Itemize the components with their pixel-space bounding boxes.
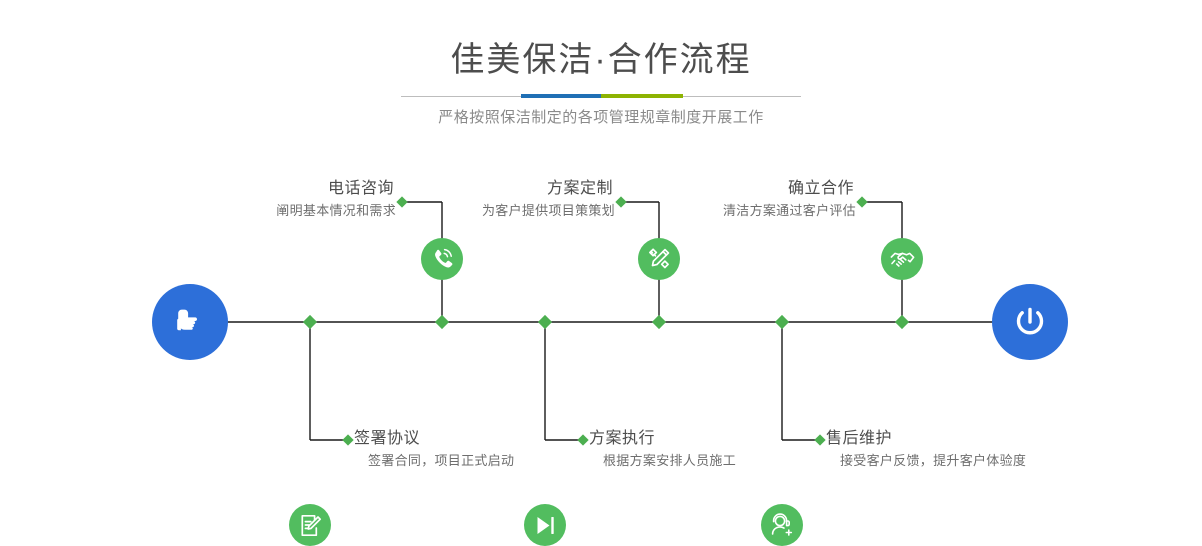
step-node-plan-design[interactable] xyxy=(638,238,680,280)
step-label-phone-call: 电话咨询 阐明基本情况和需求 xyxy=(150,178,396,222)
timeline-diamond-5 xyxy=(775,315,789,329)
step-title: 确立合作 xyxy=(610,178,856,200)
play-forward-icon xyxy=(533,513,558,538)
step-title: 电话咨询 xyxy=(150,178,396,200)
step-desc: 为客户提供项目策策划 xyxy=(370,200,615,222)
label-diamond-down-2 xyxy=(577,434,588,445)
pointing-hand-icon xyxy=(170,302,210,342)
step-node-handshake[interactable] xyxy=(881,238,923,280)
page-title: 佳美保洁·合作流程 xyxy=(0,38,1202,82)
step-desc: 接受客户反馈，提升客户体验度 xyxy=(826,450,1026,472)
step-title: 售后维护 xyxy=(826,428,1026,450)
step-node-sign-agreement[interactable] xyxy=(289,504,331,546)
step-label-handshake: 确立合作 清洁方案通过客户评估 xyxy=(610,178,856,222)
timeline-diamond-1 xyxy=(303,315,317,329)
step-label-plan-design: 方案定制 为客户提供项目策策划 xyxy=(370,178,615,222)
step-node-execute-plan[interactable] xyxy=(524,504,566,546)
timeline-diamond-4 xyxy=(652,315,666,329)
timeline-diamond-3 xyxy=(538,315,552,329)
step-desc: 清洁方案通过客户评估 xyxy=(610,200,856,222)
timeline-diamond-6 xyxy=(895,315,909,329)
title-divider xyxy=(401,94,801,98)
step-title: 方案定制 xyxy=(370,178,615,200)
divider-blue-segment xyxy=(521,94,601,98)
headset-support-icon xyxy=(769,512,795,538)
step-desc: 签署合同，项目正式启动 xyxy=(354,450,514,472)
process-flow-diagram: 电话咨询 阐明基本情况和需求 方案定制 为客户提供项目策策划 确立合作 清洁方案… xyxy=(0,150,1202,502)
label-diamond-down-1 xyxy=(342,434,353,445)
step-label-sign-agreement: 签署协议 签署合同，项目正式启动 xyxy=(354,428,514,472)
step-node-after-sales[interactable] xyxy=(761,504,803,546)
document-pen-icon xyxy=(298,513,323,538)
page-header: 佳美保洁·合作流程 严格按照保洁制定的各项管理规章制度开展工作 xyxy=(0,0,1202,150)
timeline-diamond-2 xyxy=(435,315,449,329)
pencil-ruler-icon xyxy=(646,246,672,272)
power-icon xyxy=(1009,301,1051,343)
step-desc: 阐明基本情况和需求 xyxy=(150,200,396,222)
handshake-icon xyxy=(889,246,916,273)
flow-end-node[interactable] xyxy=(992,284,1068,360)
label-diamond-up-3 xyxy=(856,196,867,207)
page-subtitle: 严格按照保洁制定的各项管理规章制度开展工作 xyxy=(0,106,1202,130)
flow-start-node[interactable] xyxy=(152,284,228,360)
step-label-execute-plan: 方案执行 根据方案安排人员施工 xyxy=(589,428,736,472)
phone-call-icon xyxy=(429,246,455,272)
divider-green-segment xyxy=(601,94,683,98)
step-desc: 根据方案安排人员施工 xyxy=(589,450,736,472)
label-diamond-down-3 xyxy=(814,434,825,445)
step-title: 签署协议 xyxy=(354,428,514,450)
step-label-after-sales: 售后维护 接受客户反馈，提升客户体验度 xyxy=(826,428,1026,472)
step-title: 方案执行 xyxy=(589,428,736,450)
step-node-phone-call[interactable] xyxy=(421,238,463,280)
